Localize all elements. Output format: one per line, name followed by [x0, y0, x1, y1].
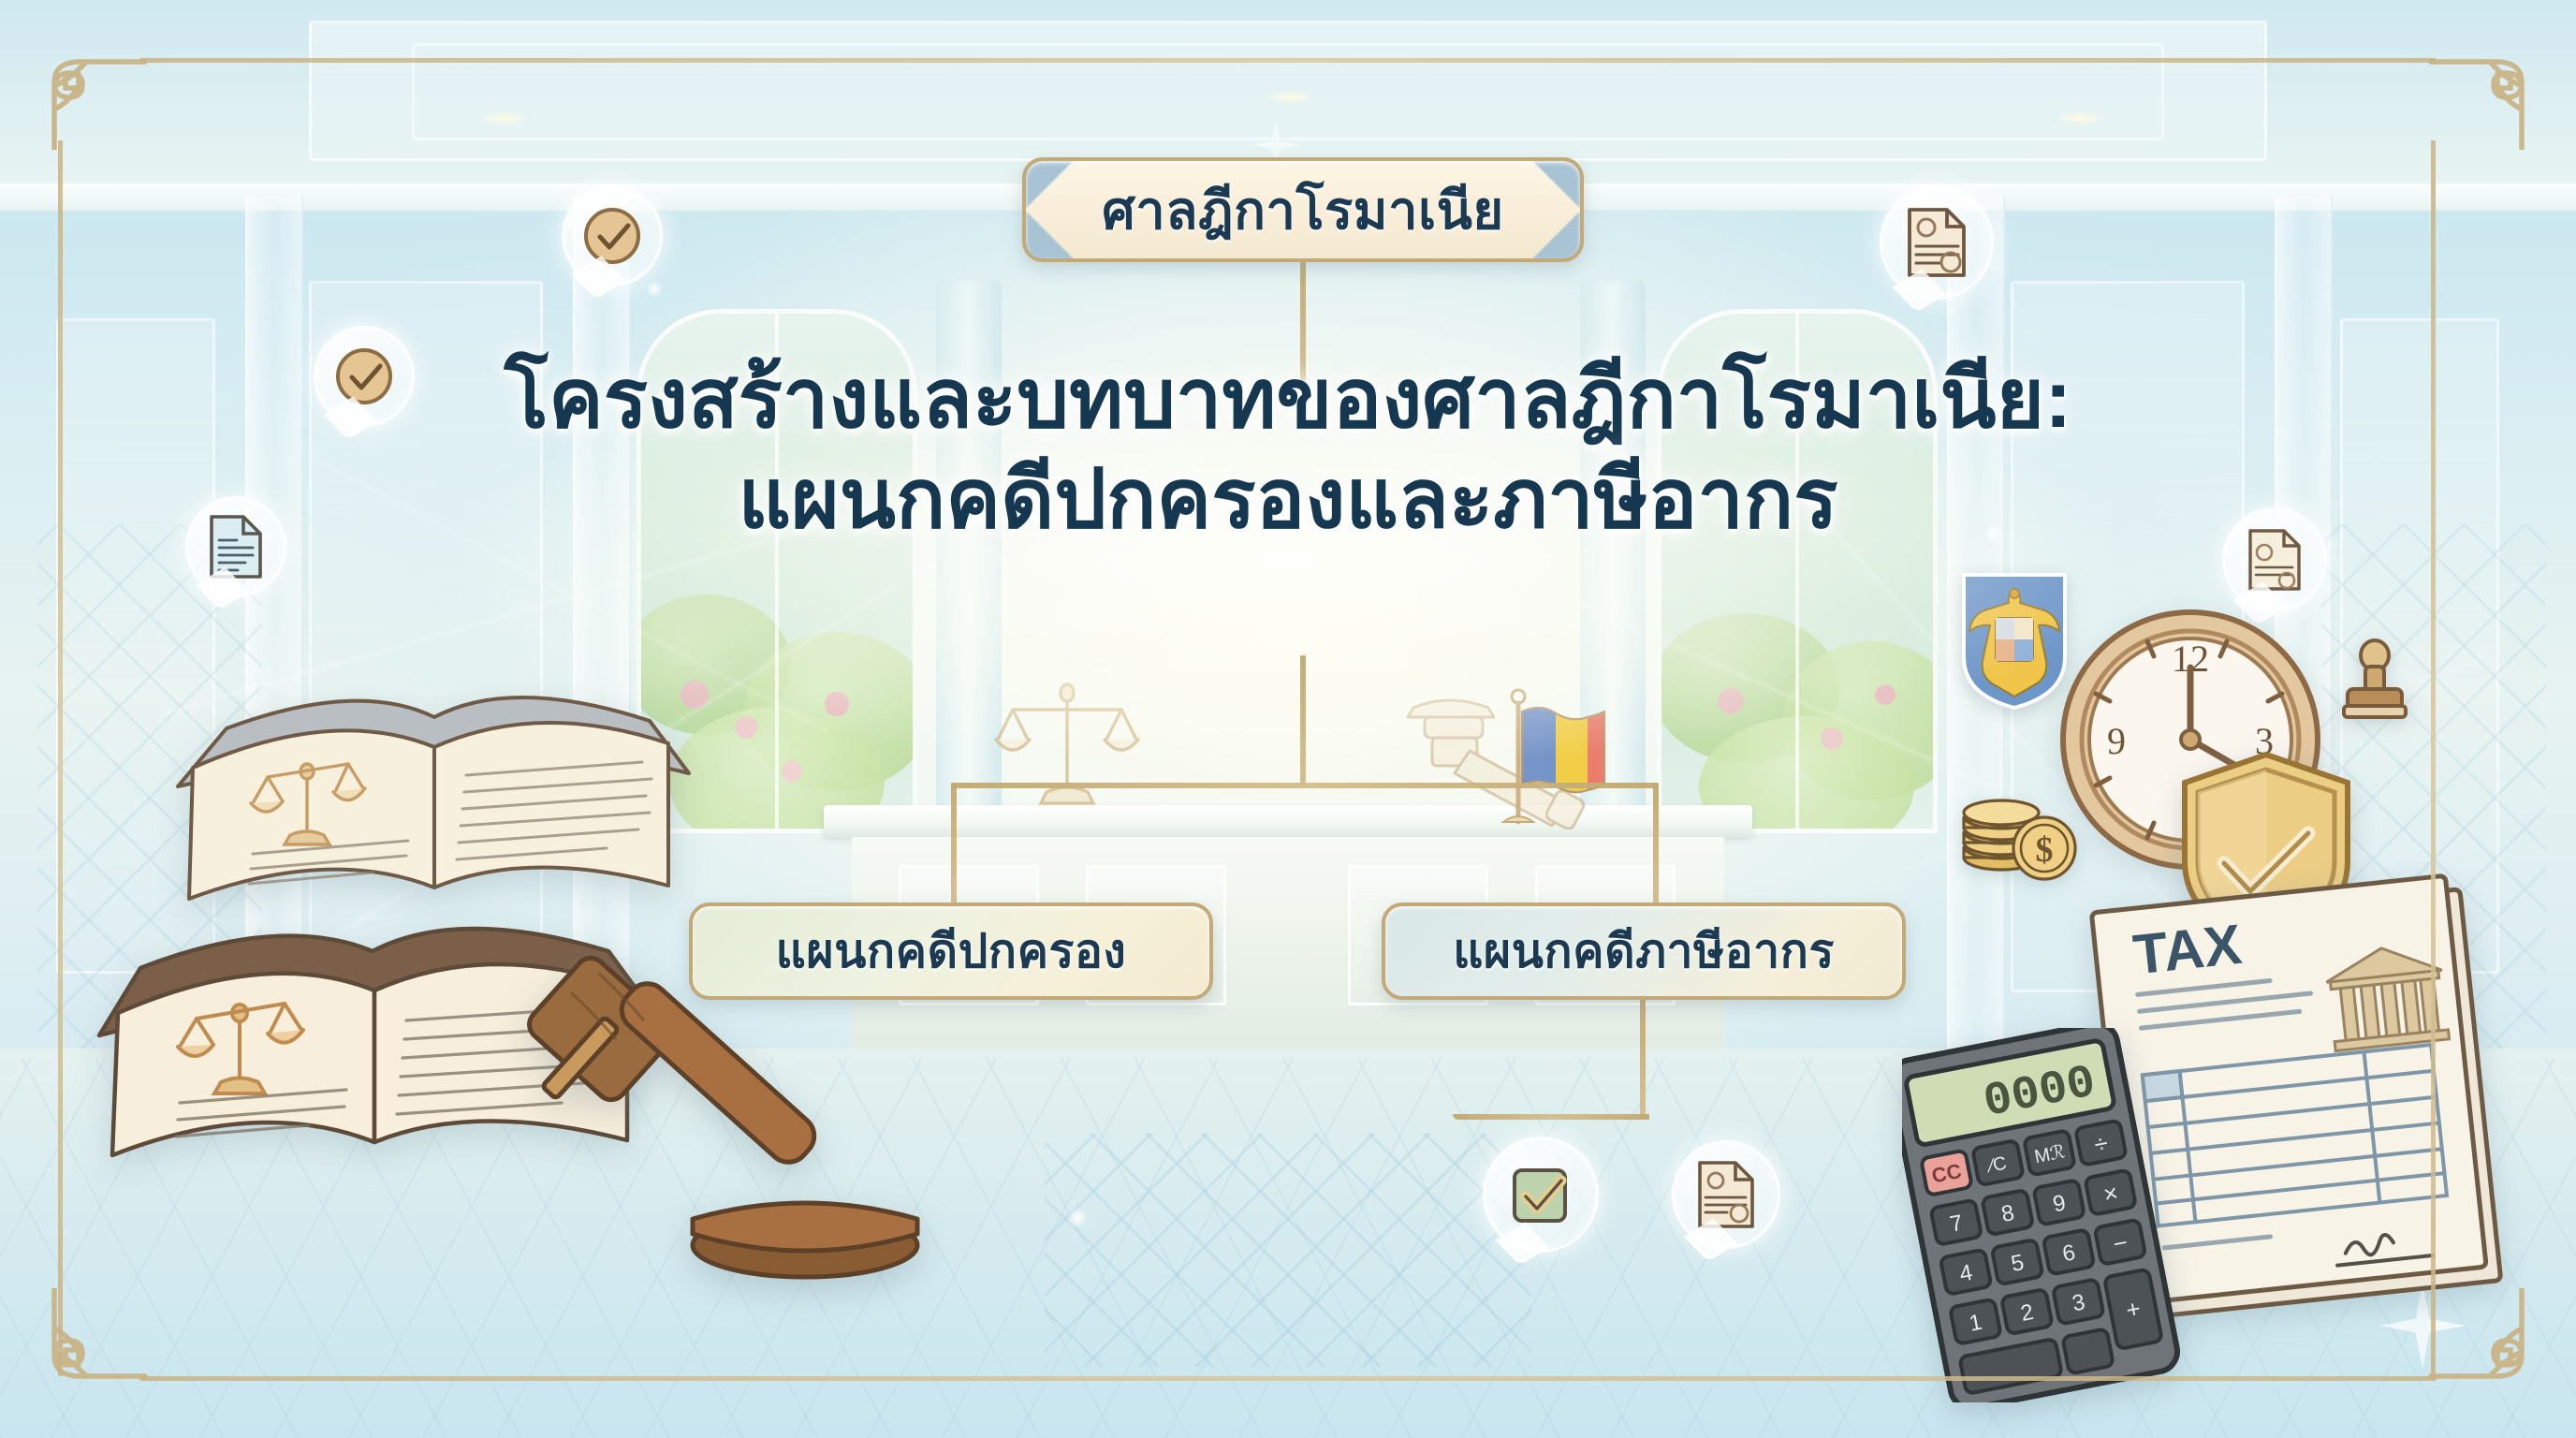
- sparkle: [1984, 524, 2003, 543]
- courtroom-window-right: [1657, 309, 1938, 833]
- clock-numeral-9: 9: [2107, 720, 2126, 762]
- sealed-document-icon: [1695, 1160, 1757, 1229]
- bubble-stamp-doc: [2222, 507, 2327, 612]
- flowchart-node-tax[interactable]: แผนกคดีภาษีอากร: [1382, 902, 1906, 1000]
- frame-corner-top-left: [28, 28, 150, 150]
- flowchart-node-tax-label: แผนกคดีภาษีอากร: [1453, 915, 1835, 989]
- frame-bottom: [140, 1376, 2436, 1381]
- romania-flag-icon: [1490, 682, 1612, 841]
- frame-corner-bottom-right: [2426, 1288, 2548, 1410]
- connector-root-stem: [1300, 262, 1306, 384]
- frame-left: [58, 140, 63, 1376]
- certificate-seal-icon: [1904, 206, 1969, 279]
- romania-coat-of-arms-icon: [1958, 569, 2071, 712]
- coin-dollar-sign: $: [2036, 830, 2054, 870]
- connector-branch-left: [951, 783, 957, 904]
- downlight: [479, 110, 530, 125]
- frame-right: [2431, 140, 2436, 1376]
- floor-medallion: [1045, 1133, 1531, 1367]
- sparkle: [646, 281, 663, 298]
- infographic-canvas: $ 12 3 6 9: [0, 0, 2576, 1438]
- frame-top: [140, 58, 2436, 63]
- check-circle-icon: [333, 345, 395, 407]
- scales-of-justice-icon: [992, 682, 1142, 813]
- bubble-document-1: [185, 496, 286, 597]
- connector-tax-bottom: [1453, 1114, 1649, 1120]
- flowchart-node-root-label: ศาลฎีกาโรมาเนีย: [1102, 169, 1504, 252]
- bubble-check-2: [314, 326, 415, 427]
- bubble-check-1: [562, 185, 663, 286]
- flowchart-node-root[interactable]: ศาลฎีกาโรมาเนีย: [1022, 157, 1584, 262]
- stamped-document-icon: [2246, 528, 2304, 592]
- check-circle-icon: [581, 205, 643, 267]
- flowchart-node-administrative[interactable]: แผนกคดีปกครอง: [689, 902, 1213, 1000]
- document-lines-icon: [207, 514, 265, 580]
- green-checkbox-icon: [1505, 1159, 1576, 1230]
- connector-tax-down: [1640, 998, 1646, 1118]
- judge-bench-top: [824, 805, 1752, 837]
- tax-document-heading: TAX: [2130, 913, 2245, 987]
- bubble-seal-doc: [1672, 1140, 1780, 1249]
- rubber-stamp-icon: [2333, 637, 2417, 730]
- sparkle: [1067, 1208, 1088, 1228]
- connector-center-stem: [1300, 655, 1306, 786]
- connector-branch-right: [1653, 783, 1659, 904]
- downlight: [2056, 110, 2106, 125]
- bubble-checkbox: [1483, 1137, 1599, 1253]
- frame-corner-bottom-left: [28, 1288, 150, 1410]
- frame-corner-top-right: [2426, 28, 2548, 150]
- downlight: [1266, 90, 1316, 105]
- flowchart-node-administrative-label: แผนกคดีปกครอง: [776, 915, 1127, 989]
- bubble-certificate: [1880, 185, 1994, 300]
- calculator: 0000 CC ∕C Mℛ ÷ 7 8 9 ×: [1902, 1028, 2183, 1402]
